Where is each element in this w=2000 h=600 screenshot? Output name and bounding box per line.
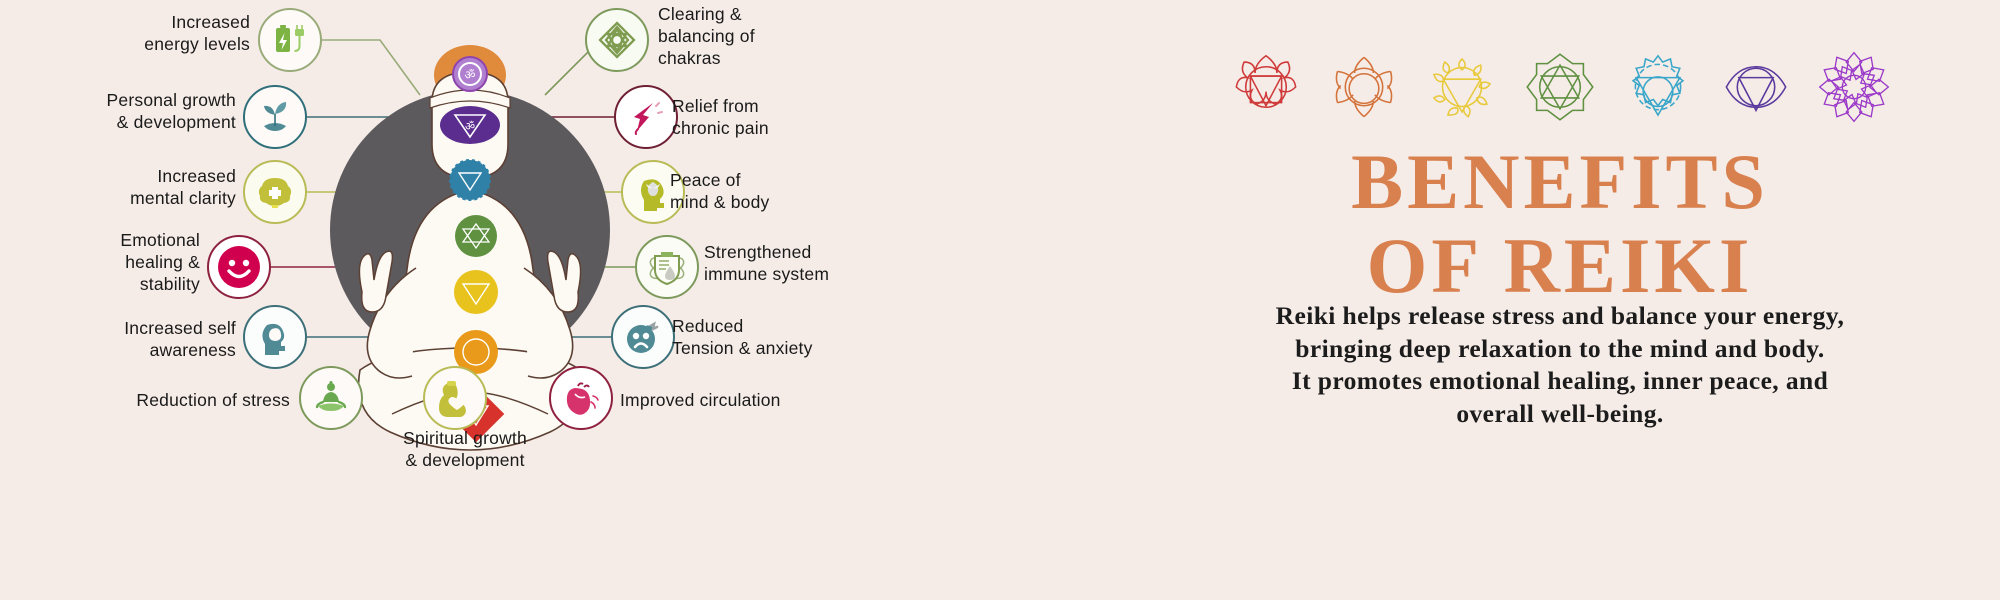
head-profile-icon [255, 317, 295, 357]
chakra-symbol-row [1120, 48, 2000, 126]
sprout-icon [256, 98, 294, 136]
sad-bomb-icon [622, 316, 664, 358]
label-mental-clarity: Increased mental clarity [60, 166, 236, 210]
reiki-benefits-diagram: ॐ ॐ [0, 0, 1120, 600]
shield-atom-icon [646, 246, 688, 288]
description-line-1: Reiki helps release stress and balance y… [1160, 300, 1960, 333]
meditating-figure-icon [311, 378, 351, 418]
label-chakras: Clearing & balancing of chakras [658, 4, 868, 70]
bubble-self-awareness[interactable] [243, 305, 307, 369]
label-tension: Reduced Tension & anxiety [672, 316, 902, 360]
bubble-circulation[interactable] [549, 366, 613, 430]
sacral-chakra-symbol [1325, 48, 1403, 126]
crown-chakra-symbol [1815, 48, 1893, 126]
bubble-tension[interactable] [611, 305, 675, 369]
brain-bulb-icon [255, 172, 295, 212]
heart-chakra-symbol [1521, 48, 1599, 126]
title-line-1: BENEFITS [1120, 140, 2000, 224]
bubble-immune[interactable] [635, 235, 699, 299]
solar-plexus-chakra-symbol [1423, 48, 1501, 126]
label-energy: Increased energy levels [60, 12, 250, 56]
label-emotional-healing: Emotional healing & stability [60, 230, 200, 296]
bubble-reduction-stress[interactable] [299, 366, 363, 430]
flex-arm-heart-icon [434, 377, 476, 419]
bubble-energy[interactable] [258, 8, 322, 72]
root-chakra-symbol [1227, 48, 1305, 126]
label-spiritual-growth: Spiritual growth & development [360, 428, 570, 472]
label-peace: Peace of mind & body [670, 170, 870, 214]
label-circulation: Improved circulation [620, 390, 880, 412]
infographic-page: ॐ ॐ [0, 0, 2000, 600]
bubble-emotional-healing[interactable] [207, 235, 271, 299]
bubble-personal-growth[interactable] [243, 85, 307, 149]
bubble-chronic-pain[interactable] [614, 85, 678, 149]
smiley-face-icon [215, 243, 263, 291]
battery-plug-icon [270, 20, 310, 60]
heart-organ-icon [561, 378, 601, 418]
bubble-chakras[interactable] [585, 8, 649, 72]
description-line-4: overall well-being. [1160, 398, 1960, 431]
pain-bolt-icon [626, 97, 666, 137]
label-immune: Strengthened immune system [704, 242, 934, 286]
svg-text:ॐ: ॐ [465, 120, 475, 133]
description-block: Reiki helps release stress and balance y… [1160, 300, 1960, 431]
label-self-awareness: Increased self awareness [60, 318, 236, 362]
label-chronic-pain: Relief from chronic pain [672, 96, 872, 140]
title-line-2: OF REIKI [1120, 224, 2000, 308]
bubble-mental-clarity[interactable] [243, 160, 307, 224]
label-reduction-stress: Reduction of stress [90, 390, 290, 412]
third-eye-chakra-symbol [1717, 48, 1795, 126]
svg-text:ॐ: ॐ [465, 68, 476, 82]
description-line-2: bringing deep relaxation to the mind and… [1160, 333, 1960, 366]
head-lotus-icon [633, 172, 673, 212]
chakra-star-icon [596, 19, 638, 61]
label-personal-growth: Personal growth & development [40, 90, 236, 134]
page-title: BENEFITS OF REIKI [1120, 140, 2000, 308]
throat-chakra-symbol [1619, 48, 1697, 126]
reiki-text-panel: BENEFITS OF REIKI Reiki helps release st… [1120, 0, 2000, 600]
description-line-3: It promotes emotional healing, inner pea… [1160, 365, 1960, 398]
bubble-spiritual-growth[interactable] [423, 366, 487, 430]
